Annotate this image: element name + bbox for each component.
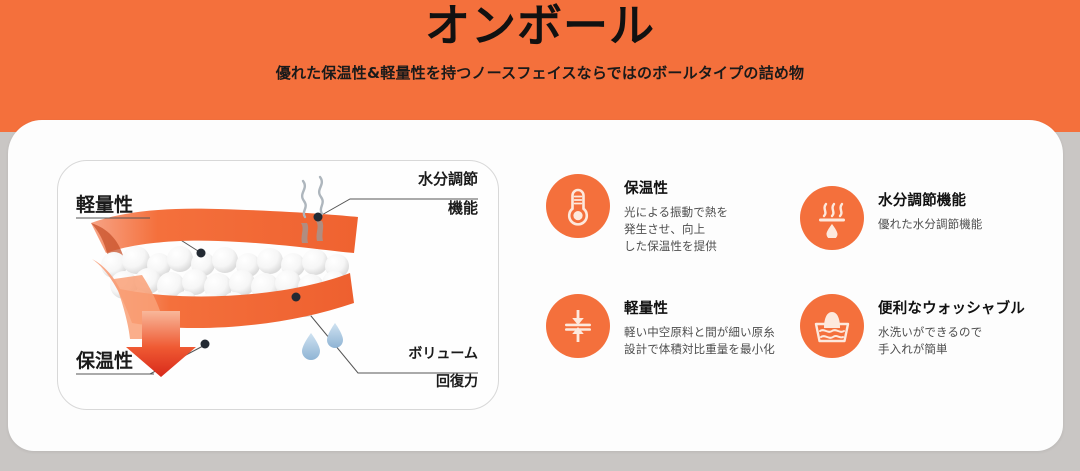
- steam-icon: [302, 177, 323, 217]
- feature-list: 保温性 光による振動で熱を 発生させ、向上 した保温性を提供: [538, 168, 1053, 408]
- diagram-label-volume-line2: 回復力: [436, 373, 478, 390]
- feature-item-washable: 便利なウォッシャブル 水洗いができるので 手入れが簡単: [800, 294, 1025, 358]
- feature-title: 軽量性: [624, 297, 775, 318]
- page-title: オンボール: [0, 0, 1080, 56]
- hero-banner: オンボール 優れた保温性&軽量性を持つノースフェイスならではのボールタイプの詰め…: [0, 0, 1080, 132]
- moisture-control-icon: [800, 186, 864, 250]
- feature-description: 光による振動で熱を 発生させ、向上 した保温性を提供: [624, 204, 728, 255]
- washable-basin-icon: [800, 294, 864, 358]
- feature-text-washable: 便利なウォッシャブル 水洗いができるので 手入れが簡単: [878, 294, 1025, 358]
- feature-item-moisture: 水分調節機能 優れた水分調節機能: [800, 186, 982, 250]
- feature-description: 水洗いができるので 手入れが簡単: [878, 324, 1025, 358]
- feature-text-moisture: 水分調節機能 優れた水分調節機能: [878, 186, 982, 233]
- diagram-label-moisture-line1: 水分調節: [418, 170, 478, 188]
- product-feature-page: オンボール 優れた保温性&軽量性を持つノースフェイスならではのボールタイプの詰め…: [0, 0, 1080, 471]
- diagram-label-volume-line1: ボリューム: [408, 346, 478, 362]
- water-droplets: [302, 323, 343, 360]
- page-subtitle: 優れた保温性&軽量性を持つノースフェイスならではのボールタイプの詰め物: [0, 62, 1080, 83]
- feature-item-warmth: 保温性 光による振動で熱を 発生させ、向上 した保温性を提供: [546, 174, 728, 255]
- thermometer-icon: [546, 174, 610, 238]
- diagram-label-moisture-line2: 機能: [448, 199, 478, 217]
- feature-item-lightweight: 軽量性 軽い中空原料と間が細い原糸 設計で体積対比重量を最小化: [546, 294, 775, 358]
- insulation-diagram-panel: 軽量性 水分調節 機能 保温性 ボリューム 回復力: [57, 160, 499, 410]
- feature-description: 軽い中空原料と間が細い原糸 設計で体積対比重量を最小化: [624, 324, 775, 358]
- feature-title: 保温性: [624, 177, 728, 198]
- feature-description: 優れた水分調節機能: [878, 216, 982, 233]
- feature-text-warmth: 保温性 光による振動で熱を 発生させ、向上 した保温性を提供: [624, 174, 728, 255]
- compression-arrows-icon: [546, 294, 610, 358]
- feature-text-lightweight: 軽量性 軽い中空原料と間が細い原糸 設計で体積対比重量を最小化: [624, 294, 775, 358]
- feature-title: 水分調節機能: [878, 189, 982, 210]
- diagram-label-lightweight: 軽量性: [76, 193, 133, 216]
- content-card: 軽量性 水分調節 機能 保温性 ボリューム 回復力: [8, 120, 1063, 451]
- diagram-label-warmth: 保温性: [75, 349, 133, 372]
- insulation-diagram: 軽量性 水分調節 機能 保温性 ボリューム 回復力: [58, 161, 498, 409]
- feature-title: 便利なウォッシャブル: [878, 297, 1025, 318]
